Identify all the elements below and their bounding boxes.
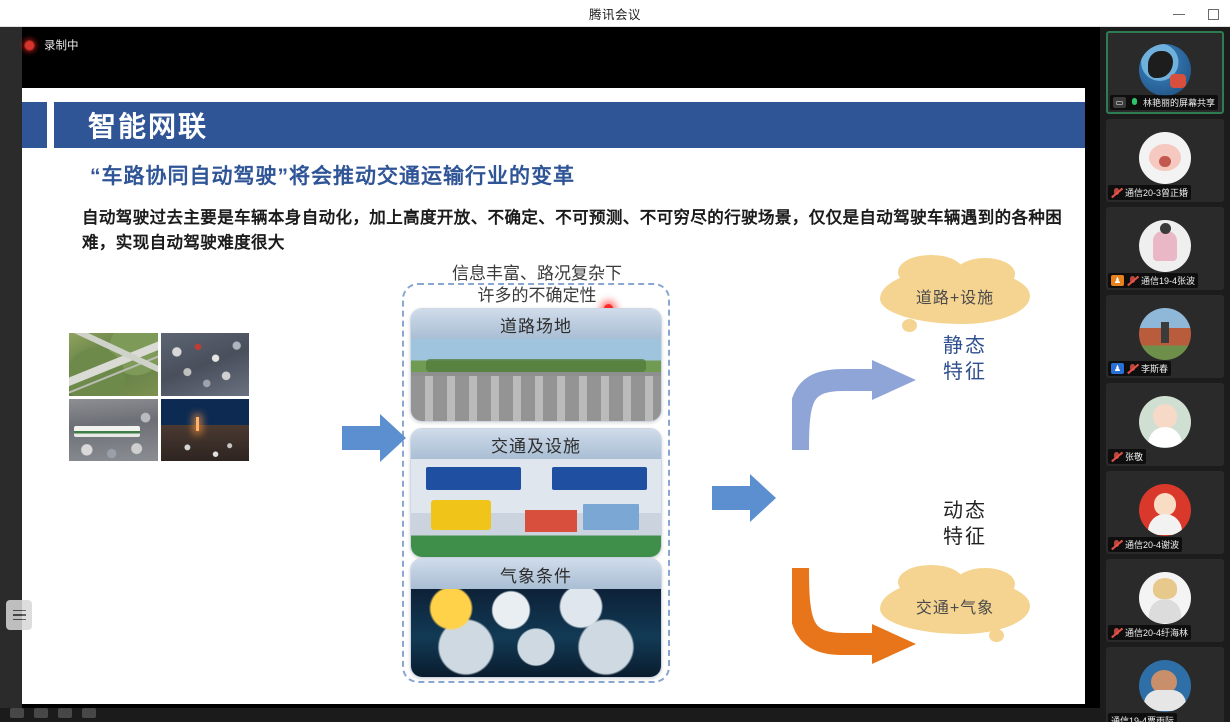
recording-indicator: 录制中 bbox=[22, 35, 79, 55]
scene-group-note: 信息丰富、路况复杂下 许多的不确定性 bbox=[422, 263, 652, 308]
microphone-muted-icon bbox=[1111, 627, 1122, 638]
minimize-icon[interactable] bbox=[1170, 5, 1188, 23]
title-bar: 腾讯会议 bbox=[0, 0, 1230, 27]
participant-name: 通信20-4谢波 bbox=[1125, 538, 1179, 551]
participant-tile[interactable]: 通信19-4贾雨际 bbox=[1106, 647, 1224, 722]
participant-video-panel[interactable]: ▭林艳丽的屏幕共享通信20-3曾正婚♟通信19-4张波♟李斯春张敬通信20-4谢… bbox=[1100, 27, 1230, 722]
participant-tile[interactable]: ♟李斯春 bbox=[1106, 295, 1224, 378]
avatar bbox=[1139, 484, 1191, 536]
recording-label: 录制中 bbox=[44, 37, 79, 53]
microphone-muted-icon bbox=[1127, 363, 1138, 374]
slide-body-text: 自动驾驶过去主要是车辆本身自动化，加上高度开放、不确定、不可预测、不可穷尽的行驶… bbox=[82, 206, 1067, 256]
participant-nameplate: 通信20-4谢波 bbox=[1108, 537, 1182, 552]
participant-nameplate: 通信20-4纡海林 bbox=[1108, 625, 1191, 640]
static-feature-line-1: 静态 bbox=[920, 333, 1010, 359]
photo-interchange bbox=[69, 333, 158, 396]
panel-road-scene: 道路场地 bbox=[410, 308, 662, 422]
avatar bbox=[1139, 44, 1191, 96]
participant-nameplate: 通信19-4贾雨际 bbox=[1108, 713, 1177, 722]
slide-header-gap bbox=[47, 102, 54, 148]
photo-bus-jam bbox=[69, 399, 158, 462]
slide-header-accent bbox=[22, 102, 47, 148]
cloud-traffic-weather: 交通+气象 bbox=[880, 578, 1030, 634]
microphone-muted-icon bbox=[1111, 539, 1122, 550]
avatar bbox=[1139, 660, 1191, 712]
participant-nameplate: ♟通信19-4张波 bbox=[1108, 273, 1198, 288]
cohost-badge-icon: ♟ bbox=[1111, 363, 1124, 374]
menu-line-icon bbox=[13, 619, 26, 621]
participant-tile[interactable]: 通信20-4谢波 bbox=[1106, 471, 1224, 554]
participant-tile[interactable]: 通信20-3曾正婚 bbox=[1106, 119, 1224, 202]
avatar bbox=[1139, 396, 1191, 448]
tencent-meeting-window: 腾讯会议 录制中 智能网联 “车路协同自动驾驶”将会推动交通运输行业的变革 自动… bbox=[0, 0, 1230, 722]
arrow-into-scene-group-icon bbox=[342, 414, 406, 462]
participant-name: 李斯春 bbox=[1141, 362, 1168, 375]
static-feature-line-2: 特征 bbox=[920, 359, 1010, 385]
recording-dot-icon bbox=[24, 40, 35, 51]
toolbar-icon[interactable] bbox=[10, 708, 24, 718]
participant-tile[interactable]: ♟通信19-4张波 bbox=[1106, 207, 1224, 290]
traffic-photo-collage bbox=[69, 333, 249, 461]
panel-traffic-caption: 交通及设施 bbox=[411, 429, 661, 459]
participant-nameplate: ▭林艳丽的屏幕共享 bbox=[1110, 95, 1218, 110]
microphone-on-icon bbox=[1129, 97, 1140, 108]
cloud-tail-icon bbox=[989, 629, 1004, 642]
participant-name: 通信19-4张波 bbox=[1141, 274, 1195, 287]
panel-weather-image bbox=[411, 589, 661, 677]
scene-note-line-2: 许多的不确定性 bbox=[422, 285, 652, 307]
toolbar-icon[interactable] bbox=[58, 708, 72, 718]
panel-weather-scene: 气象条件 bbox=[410, 558, 662, 678]
microphone-muted-icon bbox=[1127, 275, 1138, 286]
toolbar-icon[interactable] bbox=[82, 708, 96, 718]
microphone-muted-icon bbox=[1111, 451, 1122, 462]
cloud-road-facilities: 道路+设施 bbox=[880, 268, 1030, 324]
scene-note-line-1: 信息丰富、路况复杂下 bbox=[422, 263, 652, 285]
participant-nameplate: ♟李斯春 bbox=[1108, 361, 1171, 376]
participant-name: 张敬 bbox=[1125, 450, 1143, 463]
participant-nameplate: 通信20-3曾正婚 bbox=[1108, 185, 1191, 200]
toolbar-icon[interactable] bbox=[34, 708, 48, 718]
window-controls bbox=[1170, 0, 1222, 27]
maximize-icon[interactable] bbox=[1204, 5, 1222, 23]
photo-congestion bbox=[161, 333, 250, 396]
participant-tile[interactable]: 通信20-4纡海林 bbox=[1106, 559, 1224, 642]
participant-name: 通信20-4纡海林 bbox=[1125, 626, 1188, 639]
slide-header-bar: 智能网联 bbox=[22, 102, 1085, 148]
dynamic-feature-line-2: 特征 bbox=[920, 524, 1010, 550]
avatar bbox=[1139, 220, 1191, 272]
screen-share-icon: ▭ bbox=[1113, 97, 1126, 108]
slide-header-main: 智能网联 bbox=[54, 102, 1085, 148]
presentation-slide: 智能网联 “车路协同自动驾驶”将会推动交通运输行业的变革 自动驾驶过去主要是车辆… bbox=[22, 88, 1085, 704]
cloud-tail-icon bbox=[902, 319, 917, 332]
slide-subtitle: “车路协同自动驾驶”将会推动交通运输行业的变革 bbox=[90, 160, 575, 190]
cloud-road-facilities-text: 道路+设施 bbox=[916, 284, 994, 308]
dynamic-feature-line-1: 动态 bbox=[920, 498, 1010, 524]
meeting-toolbar-partial[interactable] bbox=[0, 708, 1100, 722]
avatar bbox=[1139, 308, 1191, 360]
slide-menu-button[interactable] bbox=[6, 600, 32, 630]
slide-title: 智能网联 bbox=[88, 105, 208, 145]
participant-name: 林艳丽的屏幕共享 bbox=[1143, 96, 1215, 109]
menu-line-icon bbox=[13, 614, 26, 616]
participant-name: 通信20-3曾正婚 bbox=[1125, 186, 1188, 199]
panel-weather-caption: 气象条件 bbox=[411, 559, 661, 589]
panel-traffic-image bbox=[411, 459, 661, 557]
host-badge-icon: ♟ bbox=[1111, 275, 1124, 286]
participant-tile[interactable]: 张敬 bbox=[1106, 383, 1224, 466]
microphone-muted-icon bbox=[1111, 187, 1122, 198]
panel-road-caption: 道路场地 bbox=[411, 309, 661, 339]
avatar bbox=[1139, 132, 1191, 184]
avatar bbox=[1139, 572, 1191, 624]
photo-night-highway bbox=[161, 399, 250, 462]
app-title: 腾讯会议 bbox=[589, 4, 641, 23]
arrow-out-of-scene-group-icon bbox=[712, 474, 776, 522]
panel-traffic-scene: 交通及设施 bbox=[410, 428, 662, 558]
panel-road-image bbox=[411, 339, 661, 421]
participant-tile[interactable]: ▭林艳丽的屏幕共享 bbox=[1106, 31, 1224, 114]
label-static-feature: 静态 特征 bbox=[920, 333, 1010, 385]
cloud-traffic-weather-text: 交通+气象 bbox=[916, 594, 994, 618]
participant-nameplate: 张敬 bbox=[1108, 449, 1146, 464]
participant-name: 通信19-4贾雨际 bbox=[1111, 714, 1174, 722]
label-dynamic-feature: 动态 特征 bbox=[920, 498, 1010, 550]
menu-line-icon bbox=[13, 610, 26, 612]
